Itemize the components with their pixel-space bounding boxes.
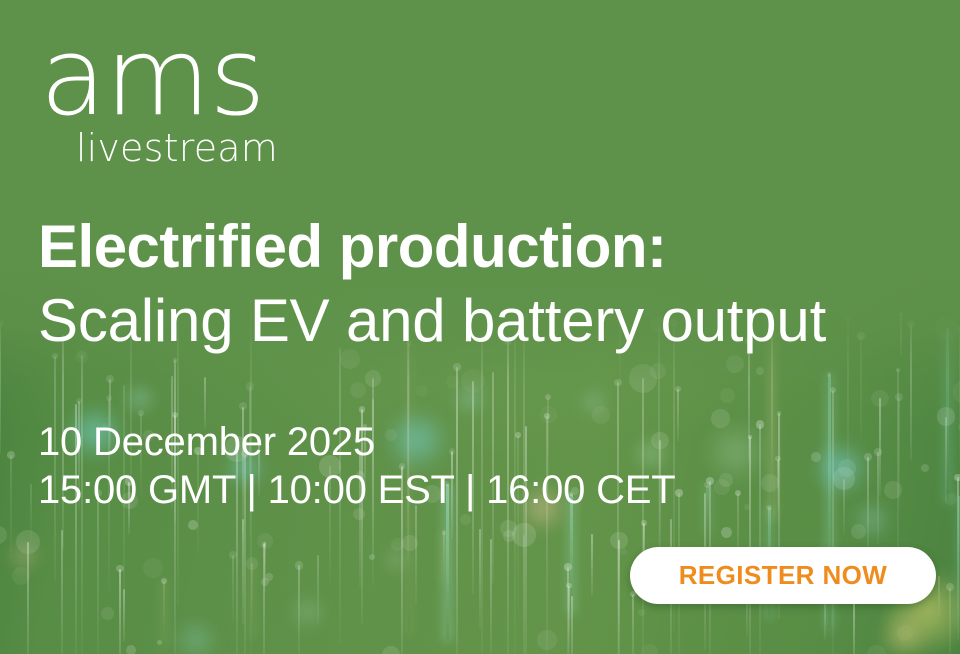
logo-subtitle: livestream — [40, 128, 278, 168]
register-now-button[interactable]: REGISTER NOW — [630, 547, 936, 604]
register-now-label: REGISTER NOW — [679, 560, 887, 591]
title-line-1: Electrified production: — [38, 212, 948, 282]
title-line-2: Scaling EV and battery output — [38, 284, 948, 358]
logo-wordmark: ams — [40, 26, 340, 130]
event-times: 15:00 GMT | 10:00 EST | 16:00 CET — [38, 466, 738, 514]
page-title: Electrified production: Scaling EV and b… — [38, 212, 948, 358]
webinar-promo-banner: ams livestream Electrified production: S… — [0, 0, 960, 654]
event-date: 10 December 2025 — [38, 418, 738, 466]
event-schedule: 10 December 2025 15:00 GMT | 10:00 EST |… — [38, 418, 738, 514]
banner-content: ams livestream Electrified production: S… — [0, 0, 960, 654]
ams-livestream-logo: ams livestream — [40, 26, 340, 168]
